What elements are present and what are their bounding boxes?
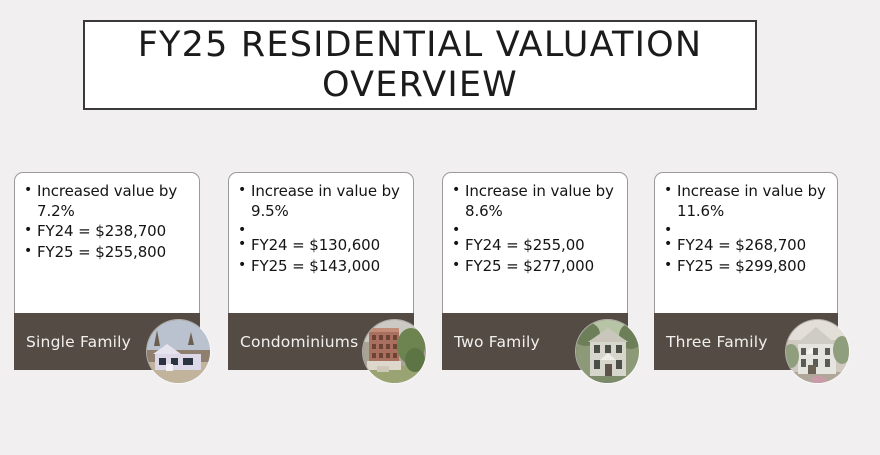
three-family-house-photo (786, 320, 849, 383)
list-item: Increase in value by 11.6% (663, 182, 831, 221)
list-item: FY24 = $238,700 (23, 222, 193, 242)
list-item: FY25 = $277,000 (451, 257, 621, 277)
list-item: FY25 = $255,800 (23, 243, 193, 263)
card-bullet-list: Increase in value by 9.5% FY24 = $130,60… (237, 182, 407, 276)
condominium-building-photo (363, 320, 426, 383)
card-bullet-list: Increase in value by 11.6% FY24 = $268,7… (663, 182, 831, 276)
card-category-label: Two Family (454, 333, 540, 351)
single-family-house-photo (147, 320, 210, 383)
valuation-card-three-family: Increase in value by 11.6% FY24 = $268,7… (654, 172, 838, 370)
list-spacer (237, 222, 407, 235)
valuation-card-two-family: Increase in value by 8.6% FY24 = $255,00… (442, 172, 628, 370)
list-item: FY25 = $143,000 (237, 257, 407, 277)
list-item: FY24 = $130,600 (237, 236, 407, 256)
list-item: FY24 = $255,00 (451, 236, 621, 256)
card-body: Increased value by 7.2% FY24 = $238,700 … (14, 172, 200, 313)
two-family-house-photo (576, 320, 639, 383)
list-item: FY24 = $268,700 (663, 236, 831, 256)
list-item: FY25 = $299,800 (663, 257, 831, 277)
valuation-card-single-family: Increased value by 7.2% FY24 = $238,700 … (14, 172, 200, 370)
card-bullet-list: Increase in value by 8.6% FY24 = $255,00… (451, 182, 621, 276)
card-body: Increase in value by 9.5% FY24 = $130,60… (228, 172, 414, 313)
card-category-label: Single Family (26, 333, 131, 351)
list-item: Increase in value by 9.5% (237, 182, 407, 221)
card-category-label: Condominiums (240, 333, 358, 351)
valuation-card-condominiums: Increase in value by 9.5% FY24 = $130,60… (228, 172, 414, 370)
card-bullet-list: Increased value by 7.2% FY24 = $238,700 … (23, 182, 193, 262)
card-body: Increase in value by 8.6% FY24 = $255,00… (442, 172, 628, 313)
page-title: FY25 RESIDENTIAL VALUATION OVERVIEW (85, 25, 755, 105)
list-item: Increase in value by 8.6% (451, 182, 621, 221)
list-spacer (663, 222, 831, 235)
list-spacer (451, 222, 621, 235)
slide-title-box: FY25 RESIDENTIAL VALUATION OVERVIEW (83, 20, 757, 110)
card-category-label: Three Family (666, 333, 768, 351)
list-item: Increased value by 7.2% (23, 182, 193, 221)
card-body: Increase in value by 11.6% FY24 = $268,7… (654, 172, 838, 313)
